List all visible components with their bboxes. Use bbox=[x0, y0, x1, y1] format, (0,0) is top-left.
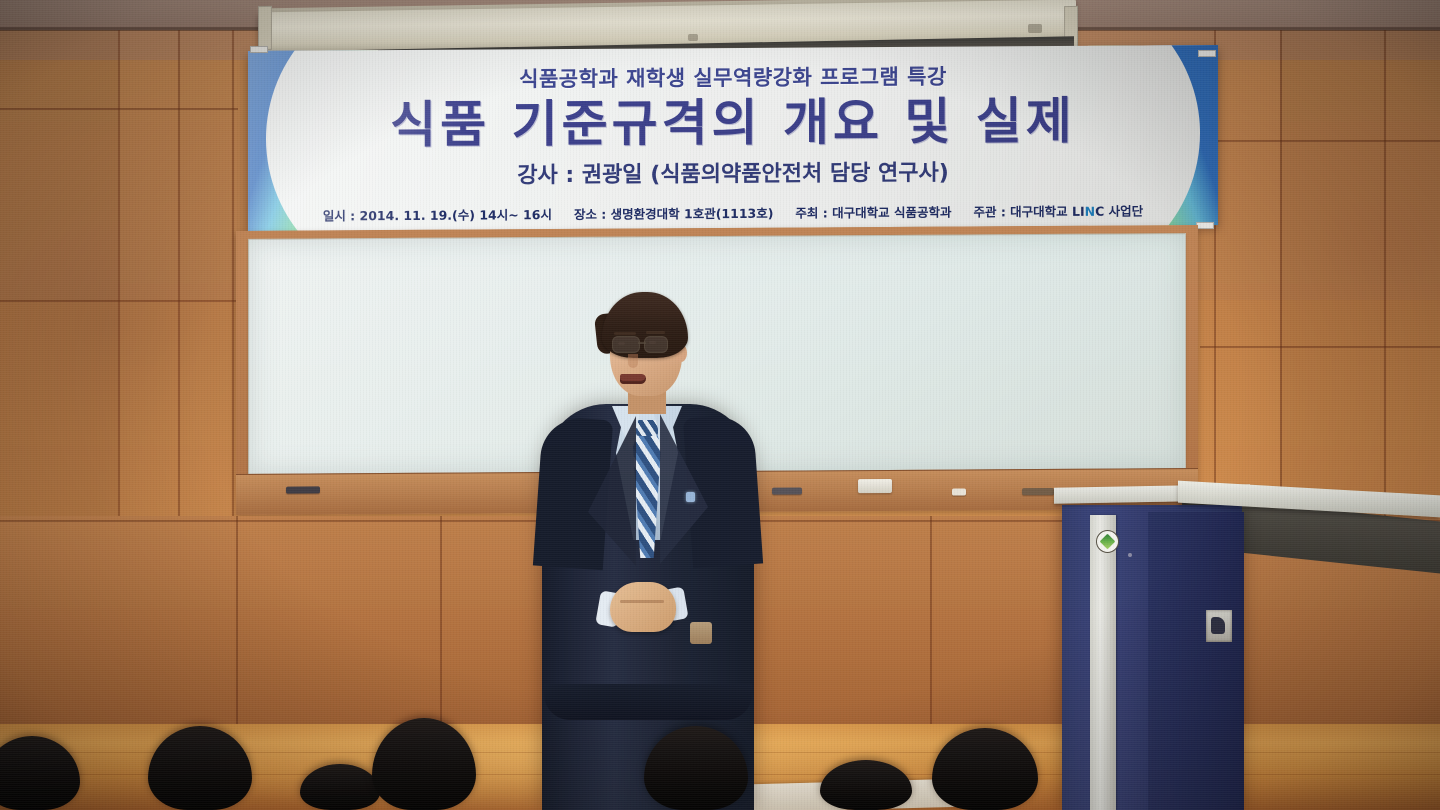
eyeglasses-icon bbox=[644, 336, 668, 353]
presenter-jacket-hem bbox=[544, 684, 752, 720]
photo-scene: 식품공학과 재학생 실무역량강화 프로그램 특강 식품 기준규격의 개요 및 실… bbox=[0, 0, 1440, 810]
banner-organizer-prefix: 주관 : 대구대학교 LI bbox=[973, 204, 1084, 220]
podium-body-side bbox=[1148, 512, 1244, 810]
banner-organizer-suffix: C 사업단 bbox=[1095, 203, 1143, 218]
banner-datetime: 일시 : 2014. 11. 19.(수) 14시~ 16시 bbox=[323, 204, 552, 224]
wainscot-seam bbox=[440, 516, 442, 732]
marker[interactable] bbox=[952, 488, 966, 495]
presenter-brow-left bbox=[614, 332, 636, 335]
eyeglasses-bridge bbox=[638, 342, 646, 344]
lapel-badge-icon bbox=[686, 492, 695, 502]
screen-case-bracket bbox=[1028, 24, 1042, 33]
banner-venue: 장소 : 생명환경대학 1호관(1113호) bbox=[574, 203, 773, 223]
whiteboard-eraser[interactable] bbox=[858, 479, 892, 493]
wainscot-seam bbox=[930, 516, 932, 732]
presenter-tie-knot bbox=[636, 420, 658, 436]
presenter bbox=[536, 292, 760, 810]
marker[interactable] bbox=[772, 487, 802, 494]
banner-subtitle: 식품공학과 재학생 실무역량강화 프로그램 특강 bbox=[519, 61, 947, 94]
presenter-brow-right bbox=[646, 331, 665, 334]
marker[interactable] bbox=[286, 486, 320, 493]
banner-host: 주최 : 대구대학교 식품공학과 bbox=[795, 202, 951, 222]
banner-rod-top-left bbox=[250, 46, 268, 53]
wall-shading bbox=[1280, 30, 1440, 516]
screen-case-knob bbox=[688, 34, 698, 41]
banner-rod-bottom-right bbox=[1196, 222, 1214, 229]
podium-latch-handle[interactable] bbox=[1206, 610, 1232, 642]
banner-organizer-highlight: N bbox=[1085, 204, 1095, 219]
university-emblem-icon bbox=[1096, 530, 1119, 553]
screen-case-endcap-left bbox=[258, 6, 272, 50]
marker[interactable] bbox=[1022, 488, 1054, 495]
banner-speaker: 강사 : 권광일 (식품의약품안전처 담당 연구사) bbox=[517, 155, 949, 190]
event-banner: 식품공학과 재학생 실무역량강화 프로그램 특강 식품 기준규격의 개요 및 실… bbox=[248, 45, 1218, 231]
banner-rod-top-right bbox=[1198, 50, 1216, 57]
presenter-nose bbox=[628, 354, 638, 368]
presenter-clasped-hands bbox=[610, 582, 676, 632]
wall-seam bbox=[232, 30, 234, 516]
banner-organizer: 주관 : 대구대학교 LINC 사업단 bbox=[973, 200, 1143, 220]
presenter-mouth bbox=[620, 374, 646, 384]
presenter-pocket-item bbox=[690, 622, 712, 644]
podium-screw bbox=[1128, 553, 1132, 557]
eyeglasses-icon bbox=[612, 336, 640, 353]
banner-title: 식품 기준규격의 개요 및 실제 bbox=[390, 94, 1076, 152]
podium-accent-strip bbox=[1090, 515, 1116, 810]
wainscot-seam bbox=[236, 516, 238, 732]
